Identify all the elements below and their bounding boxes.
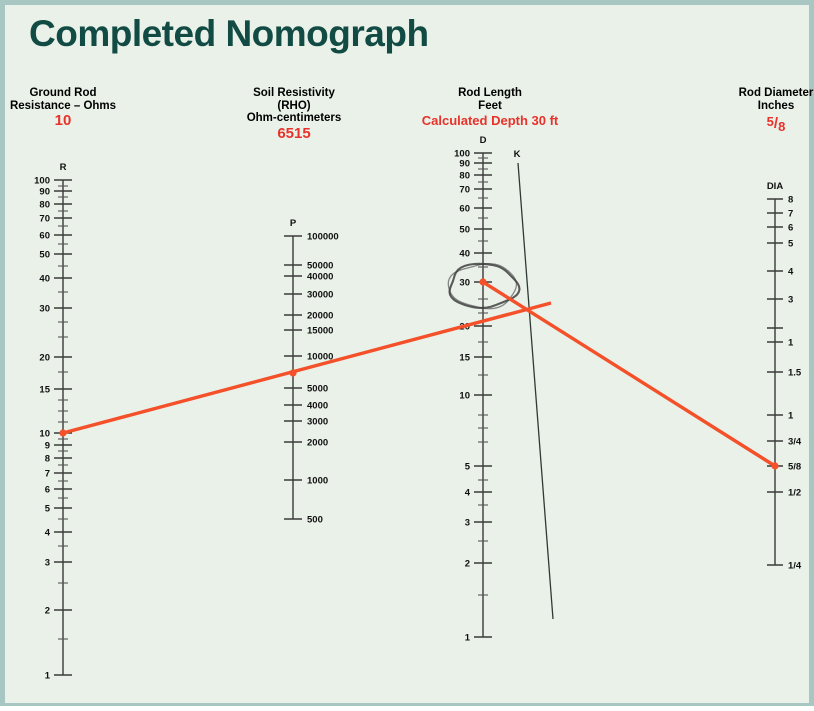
tick-label: 3/4: [788, 436, 802, 447]
tick-label: 1/2: [788, 487, 801, 498]
tick-label: 9: [45, 440, 50, 451]
construction-lines: [59, 278, 778, 469]
axis-name-K: K: [514, 149, 521, 160]
tick-label: 5: [465, 461, 471, 472]
tick-label: 100: [34, 175, 50, 186]
tick-label: 80: [459, 170, 470, 181]
tick-label: 15000: [307, 325, 333, 336]
construction-point: [289, 369, 296, 376]
tick-label: 15: [39, 384, 50, 395]
construction-point: [59, 429, 66, 436]
tick-label: 5: [788, 238, 794, 249]
construction-line-resistance-to-pivot: [63, 303, 551, 433]
axis-name-labels: RPDDIAK: [60, 135, 784, 229]
construction-point: [771, 462, 778, 469]
tick-label: 40: [459, 248, 470, 259]
scale-R: 10090807060504030201510987654321: [34, 175, 72, 681]
tick-label: 4: [788, 266, 794, 277]
tick-label: 500: [307, 514, 323, 525]
tick-label: 6: [45, 484, 50, 495]
scale-P: 1000005000040000300002000015000100005000…: [284, 231, 339, 525]
tick-label: 3: [788, 294, 793, 305]
tick-label: 60: [459, 203, 470, 214]
tick-label: 4000: [307, 400, 328, 411]
tick-label: 70: [39, 213, 50, 224]
axis-name-DIA: DIA: [767, 181, 784, 192]
tick-label: 3: [45, 557, 50, 568]
tick-label: 50000: [307, 260, 333, 271]
tick-label: 2: [465, 558, 470, 569]
pivot-line-K: [518, 163, 553, 619]
tick-label: 8: [788, 194, 793, 205]
tick-label: 2: [45, 605, 50, 616]
scale-D: 1009080706050403020151054321: [454, 148, 492, 643]
tick-label: 50: [459, 224, 470, 235]
nomograph-page: Completed Nomograph Ground Rod Resistanc…: [0, 0, 814, 706]
tick-label: 5000: [307, 383, 328, 394]
tick-label: 40: [39, 273, 50, 284]
tick-label: 60: [39, 230, 50, 241]
tick-label: 7: [45, 468, 50, 479]
tick-label: 5/8: [788, 461, 801, 472]
tick-label: 7: [788, 208, 793, 219]
tick-label: 90: [459, 158, 470, 169]
tick-label: 50: [39, 249, 50, 260]
tick-label: 3000: [307, 416, 328, 427]
tick-label: 30000: [307, 289, 333, 300]
tick-label: 30: [39, 303, 50, 314]
axis-name-D: D: [480, 135, 487, 146]
tick-label: 40000: [307, 271, 333, 282]
tick-label: 80: [39, 199, 50, 210]
construction-line-depth-to-diameter: [483, 282, 775, 466]
tick-label: 1: [788, 337, 794, 348]
tick-label: 1.5: [788, 367, 802, 378]
tick-label: 4: [45, 527, 51, 538]
tick-label: 1/4: [788, 560, 802, 571]
tick-label: 5: [45, 503, 51, 514]
tick-label: 8: [45, 453, 50, 464]
nomograph-chart: 10090807060504030201510987654321 1000005…: [5, 5, 814, 711]
construction-point: [479, 278, 486, 285]
tick-label: 3: [465, 517, 470, 528]
tick-label: 1: [788, 410, 794, 421]
tick-label: 15: [459, 352, 470, 363]
scale-DIA: 87654311.513/45/81/21/4: [767, 194, 802, 571]
tick-label: 100000: [307, 231, 339, 242]
tick-label: 10: [459, 390, 470, 401]
tick-label: 10: [39, 428, 50, 439]
tick-label: 2000: [307, 437, 328, 448]
tick-label: 4: [465, 487, 471, 498]
tick-label: 1000: [307, 475, 328, 486]
tick-label: 70: [459, 184, 470, 195]
tick-label: 90: [39, 186, 50, 197]
tick-label: 1: [45, 670, 51, 681]
tick-label: 20000: [307, 310, 333, 321]
axis-name-R: R: [60, 162, 67, 173]
axis-name-P: P: [290, 218, 297, 229]
tick-label: 30: [459, 277, 470, 288]
tick-label: 1: [465, 632, 471, 643]
tick-label: 20: [39, 352, 50, 363]
tick-label: 6: [788, 222, 793, 233]
